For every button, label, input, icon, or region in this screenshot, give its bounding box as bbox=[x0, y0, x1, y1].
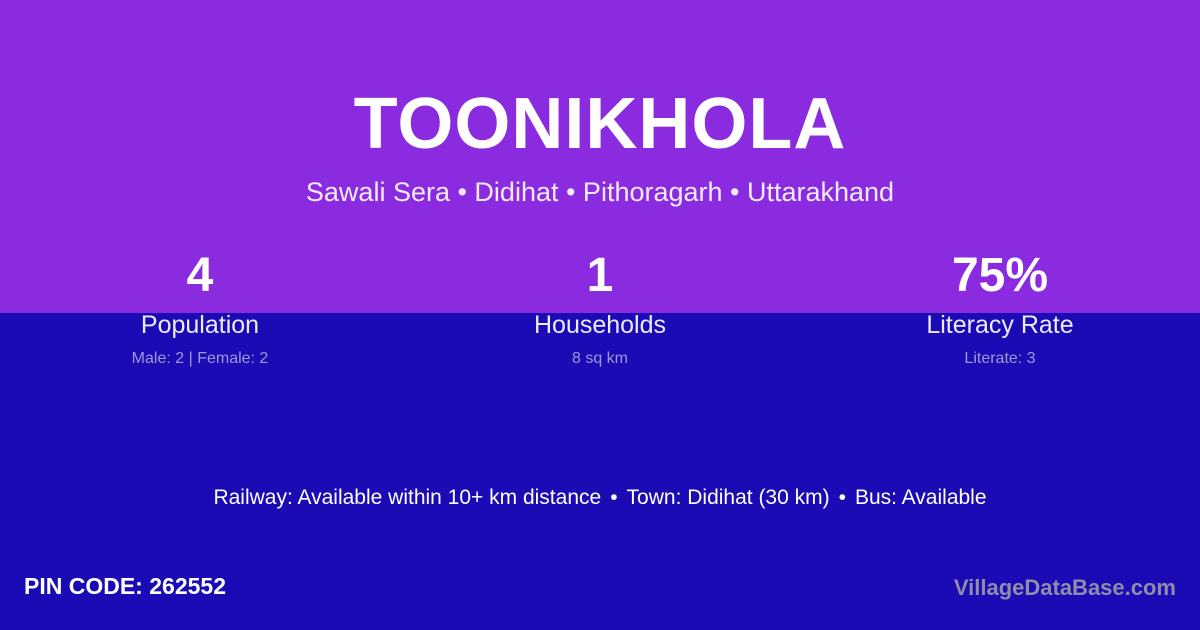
stat-value: 4 bbox=[0, 248, 400, 304]
card-header: TOONIKHOLA Sawali Sera • Didihat • Pitho… bbox=[0, 0, 1200, 208]
stat-label: Literacy Rate bbox=[800, 304, 1200, 340]
amenity-railway: Railway: Available within 10+ km distanc… bbox=[213, 486, 601, 509]
stat-subtext: Male: 2 | Female: 2 bbox=[0, 340, 400, 369]
amenities-line: Railway: Available within 10+ km distanc… bbox=[0, 484, 1200, 512]
amenity-separator: • bbox=[830, 484, 855, 512]
amenity-town: Town: Didihat (30 km) bbox=[627, 486, 830, 509]
stat-subtext: Literate: 3 bbox=[800, 340, 1200, 369]
amenity-bus: Bus: Available bbox=[855, 486, 987, 509]
stat-population: 4 Population Male: 2 | Female: 2 bbox=[0, 248, 400, 369]
stat-label: Population bbox=[0, 304, 400, 340]
village-info-card: TOONIKHOLA Sawali Sera • Didihat • Pitho… bbox=[0, 0, 1200, 630]
stat-subtext: 8 sq km bbox=[400, 340, 800, 369]
card-footer: PIN CODE: 262552 VillageDataBase.com bbox=[0, 558, 1200, 630]
stat-literacy-rate: 75% Literacy Rate Literate: 3 bbox=[800, 248, 1200, 369]
pin-code: PIN CODE: 262552 bbox=[24, 572, 226, 600]
stat-label: Households bbox=[400, 304, 800, 340]
amenity-separator: • bbox=[601, 484, 626, 512]
stat-value: 1 bbox=[400, 248, 800, 304]
page-title: TOONIKHOLA bbox=[0, 0, 1200, 166]
site-brand: VillageDataBase.com bbox=[954, 574, 1176, 602]
stats-row: 4 Population Male: 2 | Female: 2 1 House… bbox=[0, 248, 1200, 369]
stat-households: 1 Households 8 sq km bbox=[400, 248, 800, 369]
stat-value: 75% bbox=[800, 248, 1200, 304]
breadcrumb: Sawali Sera • Didihat • Pithoragarh • Ut… bbox=[0, 166, 1200, 208]
